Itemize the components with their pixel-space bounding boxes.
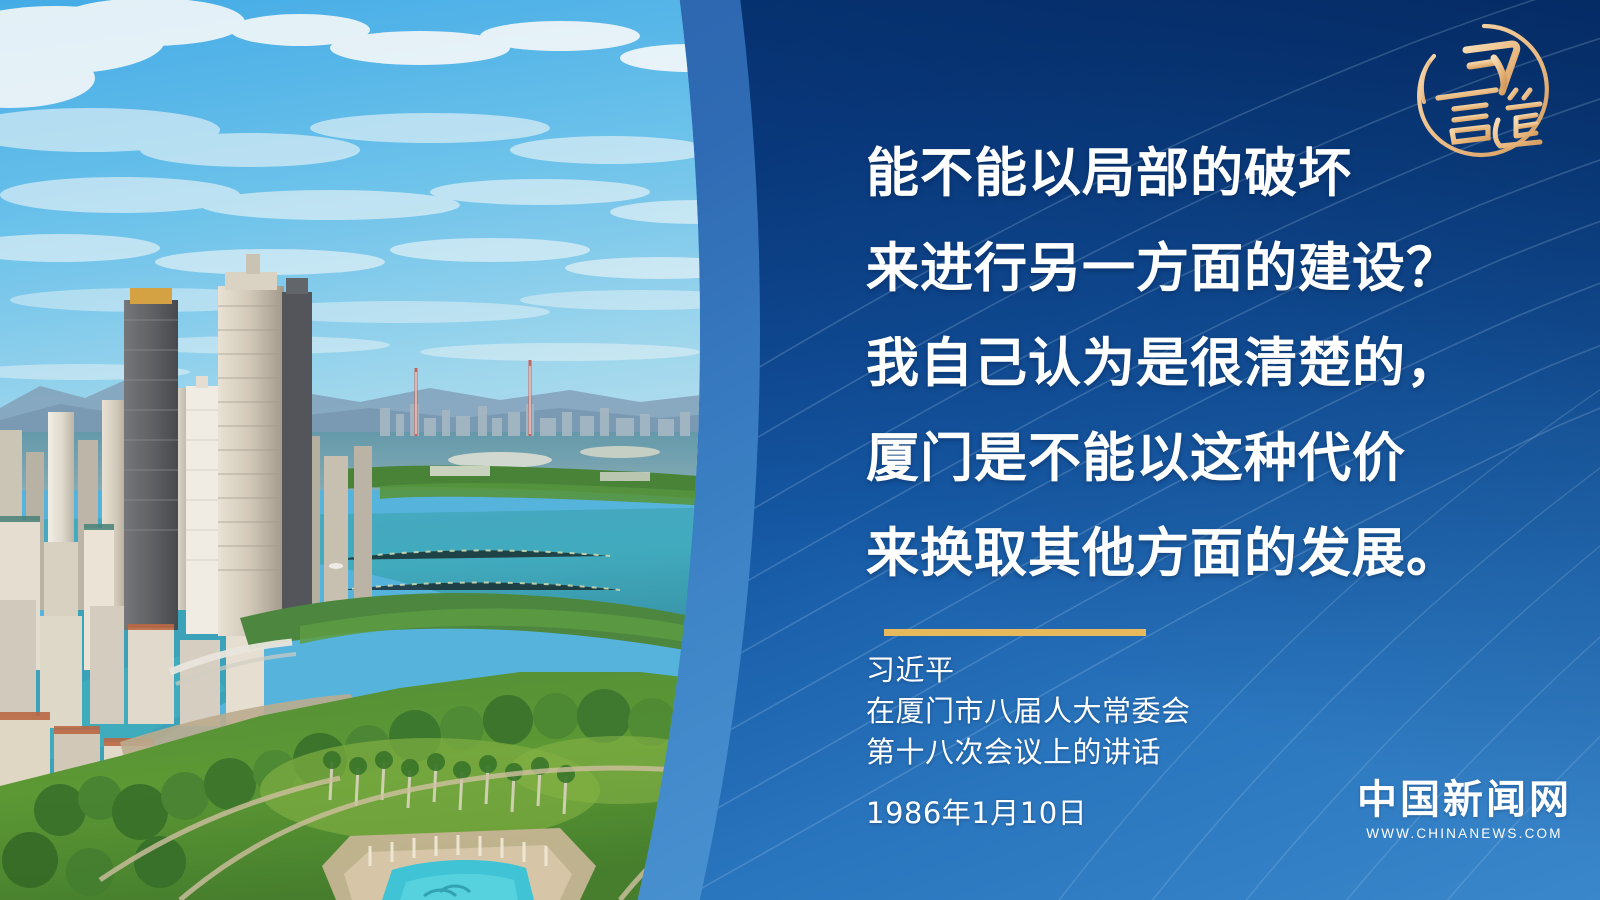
- gold-divider: [884, 623, 1146, 630]
- occasion-line-2: 第十八次会议上的讲话: [866, 732, 1426, 773]
- publisher-url: WWW.CHINANEWS.COM: [1357, 826, 1572, 841]
- quote-line: 来换取其他方面的发展。: [866, 506, 1566, 601]
- speaker-name: 习近平: [866, 650, 1426, 691]
- quote-line: 厦门是不能以这种代价: [866, 411, 1566, 506]
- publisher-name: 中国新闻网: [1357, 778, 1572, 822]
- occasion-line-1: 在厦门市八届人大常委会: [866, 691, 1426, 732]
- attribution-block: 习近平 在厦门市八届人大常委会 第十八次会议上的讲话 1986年1月10日: [866, 650, 1426, 834]
- quote-block: 能不能以局部的破坏 来进行另一方面的建设？ 我自己认为是很清楚的， 厦门是不能以…: [866, 126, 1566, 601]
- xi-yan-dao-seal-logo: [1398, 14, 1570, 166]
- speech-date: 1986年1月10日: [866, 793, 1426, 834]
- quote-line: 来进行另一方面的建设？: [866, 221, 1566, 316]
- poster-root: 能不能以局部的破坏 来进行另一方面的建设？ 我自己认为是很清楚的， 厦门是不能以…: [0, 0, 1600, 900]
- quote-line: 我自己认为是很清楚的，: [866, 316, 1566, 411]
- chinanews-logo: 中国新闻网 WWW.CHINANEWS.COM: [1357, 778, 1572, 850]
